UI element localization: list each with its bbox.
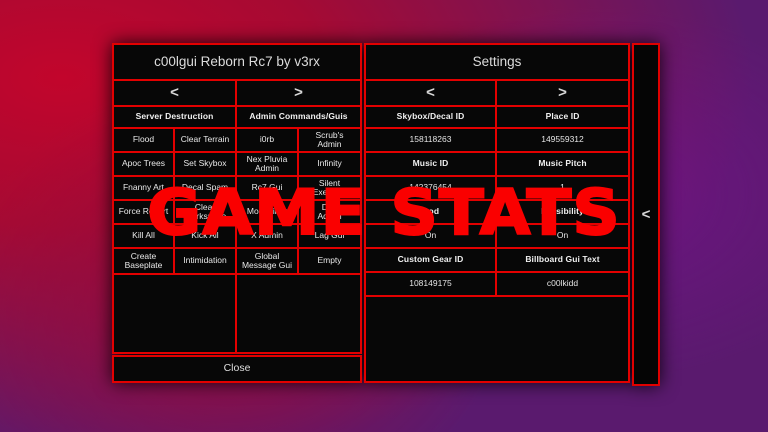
setting-header-custom-gear-id: Custom Gear ID (364, 247, 497, 273)
setting-value-music-pitch[interactable]: 1 (495, 175, 630, 201)
button-i0rb[interactable]: i0rb (235, 127, 299, 153)
chevron-left-icon: < (642, 207, 651, 222)
right-panel-title: Settings (364, 43, 630, 81)
setting-value-billboard-gui-text[interactable]: c00lkidd (495, 271, 630, 297)
button-fnanny-art[interactable]: Fnanny Art (112, 175, 175, 201)
button-rc7-gui[interactable]: Rc7 Gui (235, 175, 299, 201)
setting-header-music-id: Music ID (364, 151, 497, 177)
settings-nav-prev-button[interactable]: < (364, 79, 497, 107)
button-clear-terrain[interactable]: Clear Terrain (173, 127, 237, 153)
left-panel-title: c00lgui Reborn Rc7 by v3rx (112, 43, 362, 81)
settings-nav-next-button[interactable]: > (495, 79, 630, 107)
column-header-admin-commands: Admin Commands/Guis (235, 105, 362, 129)
button-kick-all[interactable]: Kick All (173, 223, 237, 249)
setting-value-place-id[interactable]: 149559312 (495, 127, 630, 153)
button-scrubs-admin[interactable]: Scrub's Admin (297, 127, 362, 153)
button-clear-workspace[interactable]: Clear Workspace (173, 199, 237, 225)
button-silent-executor[interactable]: Silent Executor (297, 175, 362, 201)
left-column-filler-1 (112, 273, 237, 354)
button-flood[interactable]: Flood (112, 127, 175, 153)
button-decal-spam[interactable]: Decal Spam (173, 175, 237, 201)
main-frame: c00lgui Reborn Rc7 by v3rx < > Server De… (112, 43, 630, 386)
setting-value-invisibility[interactable]: On (495, 223, 630, 249)
setting-value-music-id[interactable]: 142376454 (364, 175, 497, 201)
button-empty[interactable]: Empty (297, 247, 362, 275)
button-lag-gui[interactable]: Lag Gui (297, 223, 362, 249)
setting-header-god: God (364, 199, 497, 225)
c00lgui-window: c00lgui Reborn Rc7 by v3rx < > Server De… (112, 43, 660, 386)
button-apoc-trees[interactable]: Apoc Trees (112, 151, 175, 177)
left-column-filler-2 (235, 273, 362, 354)
settings-filler (364, 295, 630, 383)
button-kill-all[interactable]: Kill All (112, 223, 175, 249)
column-header-server-destruction: Server Destruction (112, 105, 237, 129)
setting-header-billboard-gui-text: Billboard Gui Text (495, 247, 630, 273)
button-create-baseplate[interactable]: Create Baseplate (112, 247, 175, 275)
button-infinity[interactable]: Infinity (297, 151, 362, 177)
button-mod-miner[interactable]: Mod Miner (235, 199, 299, 225)
setting-header-music-pitch: Music Pitch (495, 151, 630, 177)
button-global-message-gui[interactable]: Global Message Gui (235, 247, 299, 275)
left-nav-prev-button[interactable]: < (112, 79, 237, 107)
button-force-report[interactable]: Force Report (112, 199, 175, 225)
close-button[interactable]: Close (112, 355, 362, 383)
button-dop-admin[interactable]: Dop Admin (297, 199, 362, 225)
button-intimidation[interactable]: Intimidation (173, 247, 237, 275)
left-nav-next-button[interactable]: > (235, 79, 362, 107)
setting-header-place-id: Place ID (495, 105, 630, 129)
setting-header-invisibility: Invisibility (495, 199, 630, 225)
setting-value-god[interactable]: On (364, 223, 497, 249)
button-nex-pluvia-admin[interactable]: Nex Pluvia Admin (235, 151, 299, 177)
setting-header-skybox-decal-id: Skybox/Decal ID (364, 105, 497, 129)
collapse-tab-button[interactable]: < (632, 43, 660, 386)
button-x-admin[interactable]: X Admin (235, 223, 299, 249)
setting-value-skybox-decal-id[interactable]: 158118263 (364, 127, 497, 153)
setting-value-custom-gear-id[interactable]: 108149175 (364, 271, 497, 297)
button-set-skybox[interactable]: Set Skybox (173, 151, 237, 177)
